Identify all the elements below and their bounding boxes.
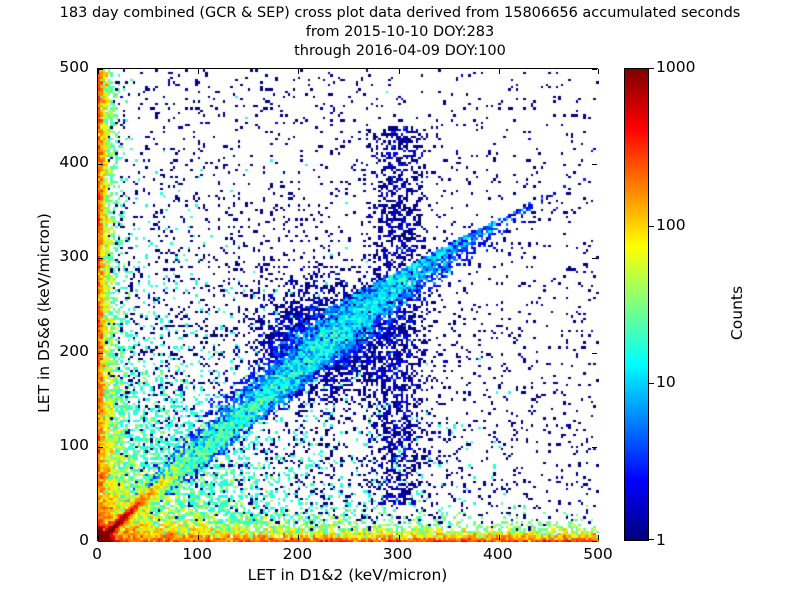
y-tick	[98, 447, 103, 448]
y-tick	[98, 69, 103, 70]
x-tick	[399, 69, 400, 74]
x-tick	[598, 69, 599, 74]
x-axis-label: LET in D1&2 (keV/micron)	[97, 566, 598, 584]
y-tick	[592, 541, 597, 542]
y-tick	[98, 164, 103, 165]
colorbar-tick-label: 1	[656, 531, 666, 549]
scatter-density-plot	[98, 69, 599, 542]
x-tick-label: 100	[167, 545, 227, 563]
y-tick	[98, 353, 103, 354]
figure-canvas: 183 day combined (GCR & SEP) cross plot …	[0, 0, 800, 600]
colorbar	[624, 68, 649, 541]
colorbar-tick-label: 10	[656, 373, 676, 391]
colorbar-tick-label: 100	[656, 216, 686, 234]
colorbar-label: Counts	[728, 203, 746, 423]
x-tick	[98, 535, 99, 540]
colorbar-tick	[649, 539, 654, 540]
title-line-1: 183 day combined (GCR & SEP) cross plot …	[0, 4, 800, 23]
y-tick	[592, 447, 597, 448]
y-tick-label: 400	[33, 153, 89, 171]
y-tick-label: 0	[33, 531, 89, 549]
title-line-2: from 2015-10-10 DOY:283	[0, 23, 800, 42]
x-tick-label: 200	[267, 545, 327, 563]
x-tick	[499, 535, 500, 540]
x-tick	[298, 535, 299, 540]
colorbar-tick	[649, 68, 654, 69]
y-tick	[592, 69, 597, 70]
x-tick-label: 500	[568, 545, 628, 563]
y-axis-label: LET in D5&6 (keV/micron)	[35, 173, 53, 453]
y-tick-label: 500	[33, 58, 89, 76]
plot-title: 183 day combined (GCR & SEP) cross plot …	[0, 4, 800, 61]
colorbar-tick-label: 1000	[656, 58, 695, 76]
y-tick	[98, 541, 103, 542]
colorbar-tick	[649, 383, 654, 384]
x-tick	[198, 535, 199, 540]
y-tick	[98, 258, 103, 259]
x-tick	[298, 69, 299, 74]
x-tick	[598, 535, 599, 540]
y-tick	[592, 258, 597, 259]
x-tick	[499, 69, 500, 74]
x-tick	[198, 69, 199, 74]
x-tick-label: 400	[468, 545, 528, 563]
y-tick	[592, 164, 597, 165]
x-tick	[399, 535, 400, 540]
colorbar-tick	[649, 226, 654, 227]
x-tick-label: 300	[368, 545, 428, 563]
colorbar-gradient	[624, 68, 649, 541]
plot-axes-area	[97, 68, 598, 541]
y-tick	[592, 353, 597, 354]
